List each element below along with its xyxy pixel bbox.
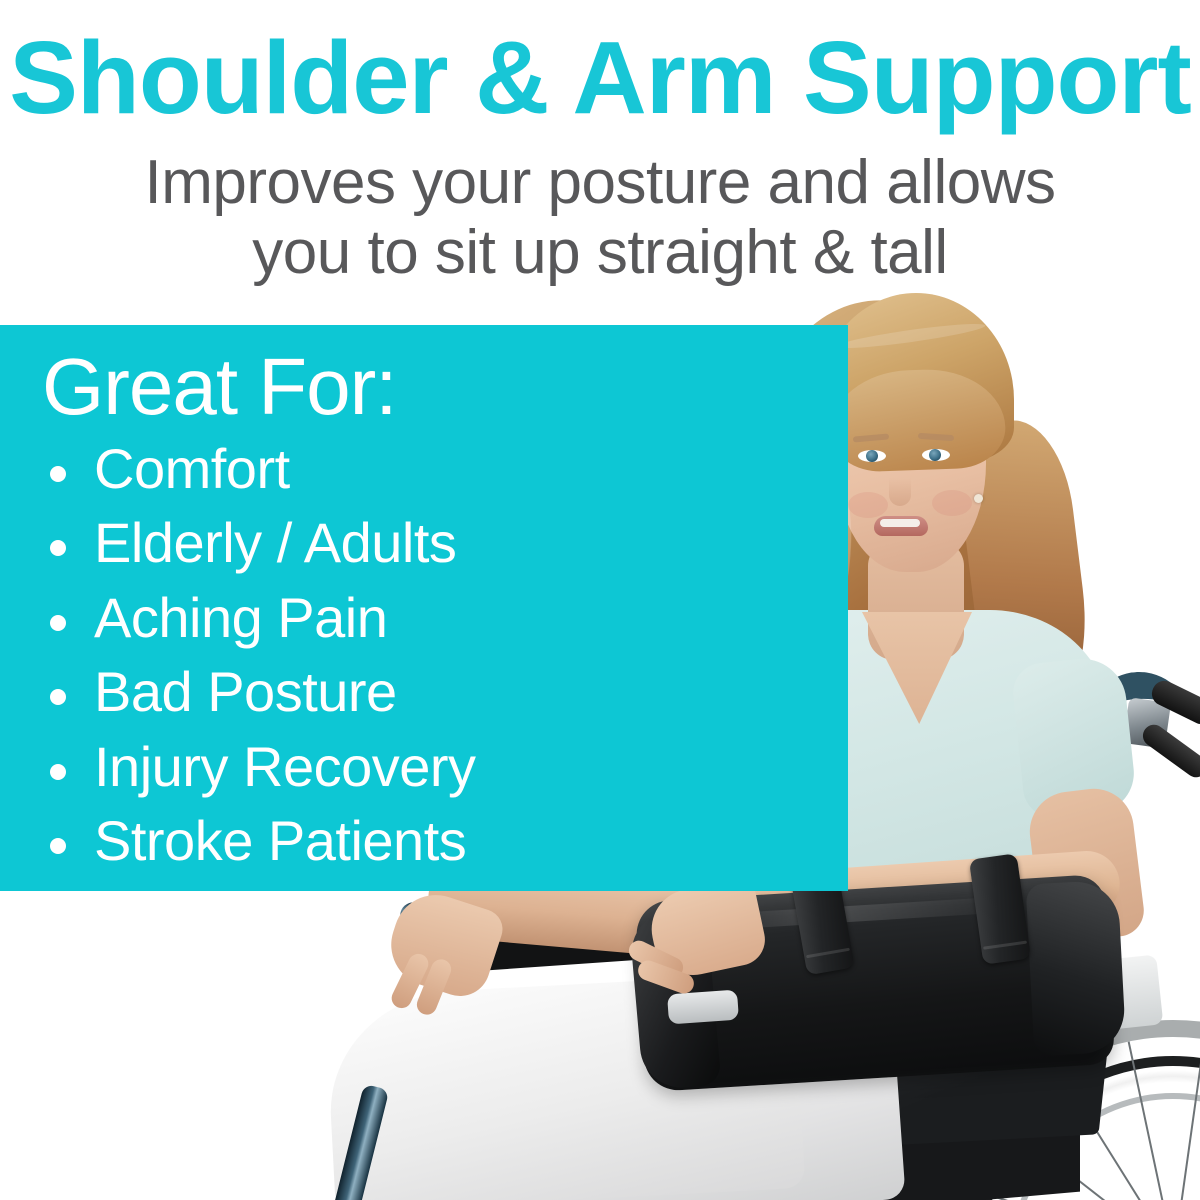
- list-item: Injury Recovery: [38, 730, 798, 804]
- feature-label: Bad Posture: [94, 660, 397, 723]
- earring: [974, 494, 983, 503]
- bullet-dot-icon: [50, 689, 66, 705]
- bullet-dot-icon: [50, 615, 66, 631]
- iris-left: [866, 450, 878, 462]
- feature-label: Comfort: [94, 437, 290, 500]
- feature-label: Aching Pain: [94, 586, 387, 649]
- bullet-dot-icon: [50, 838, 66, 854]
- feature-label: Injury Recovery: [94, 735, 476, 798]
- great-for-heading: Great For:: [42, 341, 397, 433]
- cushion-mount-tab: [667, 990, 739, 1025]
- nose: [889, 466, 911, 506]
- list-item: Elderly / Adults: [38, 506, 798, 580]
- bullet-dot-icon: [50, 466, 66, 482]
- bullet-dot-icon: [50, 764, 66, 780]
- page-subtitle: Improves your posture and allows you to …: [60, 148, 1140, 288]
- bullet-dot-icon: [50, 540, 66, 556]
- iris-right: [929, 449, 941, 461]
- teeth: [880, 519, 920, 527]
- cheek-right: [932, 490, 972, 516]
- subtitle-line-2: you to sit up straight & tall: [60, 218, 1140, 288]
- list-item: Aching Pain: [38, 581, 798, 655]
- list-item: Stroke Patients: [38, 804, 798, 878]
- subtitle-line-1: Improves your posture and allows: [60, 148, 1140, 218]
- cushion-right-endcap: [1026, 880, 1127, 1057]
- list-item: Bad Posture: [38, 655, 798, 729]
- page-title: Shoulder & Arm Support: [0, 24, 1200, 132]
- feature-label: Stroke Patients: [94, 809, 466, 872]
- cheek-left: [848, 492, 888, 518]
- marketing-graphic: Great For: Comfort Elderly / Adults Achi…: [0, 0, 1200, 1200]
- feature-label: Elderly / Adults: [94, 511, 456, 574]
- feature-list: Comfort Elderly / Adults Aching Pain Bad…: [38, 432, 798, 879]
- list-item: Comfort: [38, 432, 798, 506]
